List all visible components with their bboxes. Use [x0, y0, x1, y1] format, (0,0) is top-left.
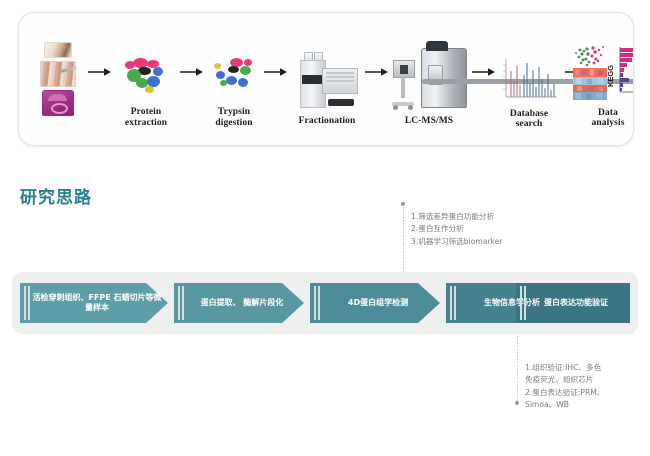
bottom-annotation-dot	[515, 401, 519, 405]
workflow-sample-stack	[27, 13, 89, 145]
flow-step-accent-bars	[314, 286, 321, 320]
flow-step-accent-bars	[450, 286, 457, 320]
top-annotation-dot	[401, 202, 405, 206]
ffpe-block-icon	[42, 90, 74, 116]
flow-step-1[interactable]: 活检穿刺组织、FFPE 石蜡切片等微量样本	[20, 283, 168, 323]
kegg-axis-label: KEGG	[606, 65, 615, 87]
flow-step-label: 4D蛋白组学检测	[338, 298, 412, 308]
workflow-step-lc-ms-ms: LC-MS/MS	[387, 21, 471, 146]
flow-step-accent-bars	[178, 286, 185, 320]
flow-step-3[interactable]: 4D蛋白组学检测	[310, 283, 440, 323]
workflow-arrow-3	[263, 67, 289, 77]
digested-peptide-icon	[212, 58, 256, 98]
workflow-step-fractionation: Fractionation	[287, 23, 367, 146]
mass-spectrum-icon	[499, 57, 559, 103]
workflow-step-protein-extraction: Protein extraction	[113, 27, 179, 146]
workflow-arrow-2	[179, 67, 205, 77]
biopsy-tissue-icon	[40, 61, 76, 87]
top-annotation-connector	[403, 207, 404, 273]
flow-step-accent-bars	[520, 286, 527, 320]
flow-step-5[interactable]: 蛋白表达功能验证	[516, 283, 630, 323]
hplc-instrument-icon	[294, 52, 360, 108]
bottom-annotation-connector	[517, 336, 518, 402]
workflow-step-label: Trypsin digestion	[215, 107, 252, 128]
data-analysis-charts-icon: KEGG	[571, 42, 634, 104]
workflow-step-label: Fractionation	[299, 116, 356, 126]
bottom-annotation-text: 1.组织验证:IHC、多色 免疫荧光、组织芯片 2.蛋白表达验证:PRM、 Si…	[525, 362, 645, 411]
workflow-step-database-search: Database search	[493, 27, 565, 146]
proteomics-workflow-card: Protein extraction Trypsin digestion	[18, 12, 634, 146]
workflow-step-trypsin-digestion: Trypsin digestion	[203, 27, 265, 146]
section-title: 研究思路	[20, 183, 92, 208]
tissue-sample-stack-icon	[40, 42, 76, 116]
research-flow-diagram: 活检穿刺组织、FFPE 石蜡切片等微量样本 蛋白提取、 酶解片段化 4D蛋白组学…	[12, 272, 638, 334]
protein-structure-icon	[123, 58, 169, 98]
workflow-step-label: Protein extraction	[125, 107, 167, 128]
flow-step-label: 蛋白提取、 酶解片段化	[191, 298, 288, 308]
workflow-step-label: Database search	[510, 109, 548, 130]
flow-step-2[interactable]: 蛋白提取、 酶解片段化	[174, 283, 304, 323]
top-annotation-text: 1.筛选差异蛋白功能分析 2.蛋白互作分析 3.机器学习筛选biomarker	[411, 211, 591, 248]
flow-step-label: 活检穿刺组织、FFPE 石蜡切片等微量样本	[20, 293, 168, 313]
flow-step-label: 蛋白表达功能验证	[534, 298, 612, 308]
workflow-step-data-analysis: KEGG Data analysis	[585, 19, 631, 146]
workflow-step-label: LC-MS/MS	[405, 116, 453, 126]
workflow-step-label: Data analysis	[591, 108, 624, 129]
mass-spectrometer-icon	[391, 48, 467, 110]
slide-sample-icon	[44, 42, 72, 58]
workflow-arrow-1	[87, 67, 113, 77]
flow-step-accent-bars	[24, 286, 31, 320]
